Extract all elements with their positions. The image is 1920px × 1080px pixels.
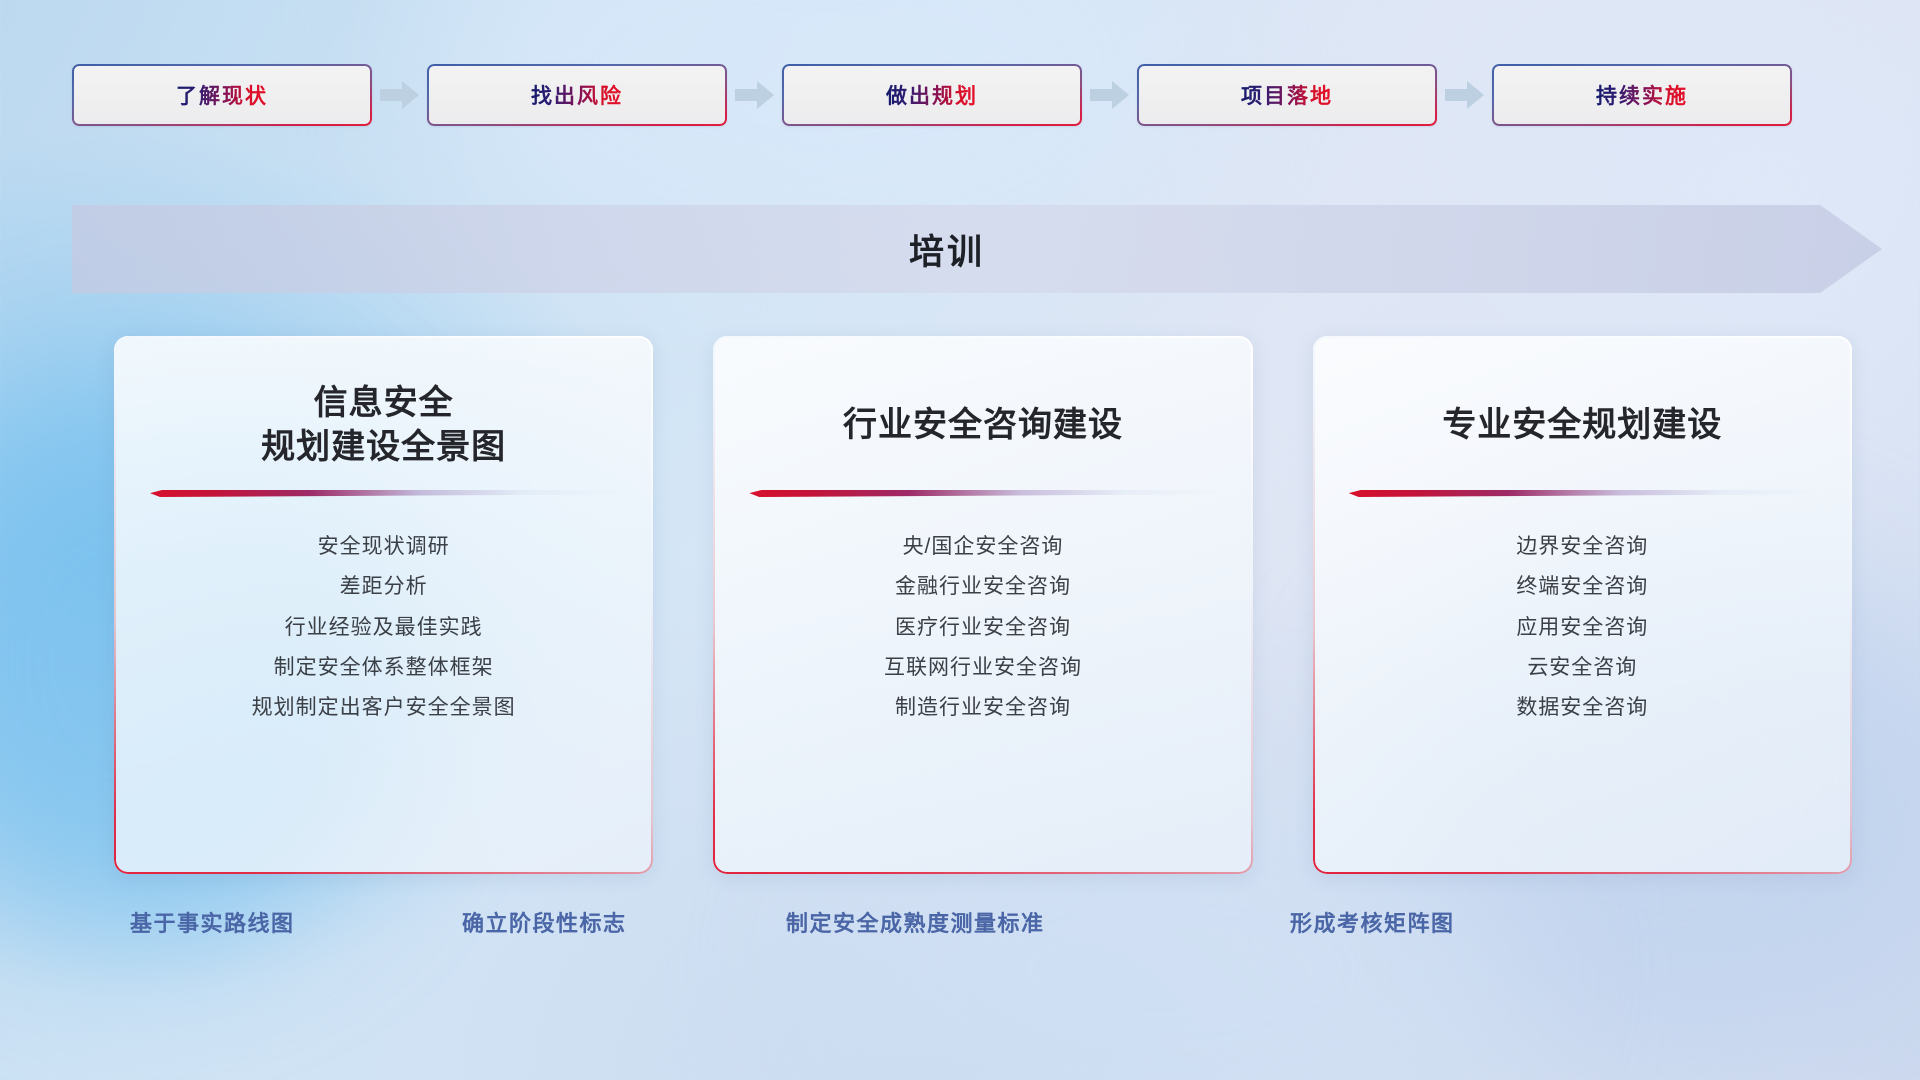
list-item: 数据安全咨询 <box>1516 694 1648 721</box>
card-item-list-3: 边界安全咨询 终端安全咨询 应用安全咨询 云安全咨询 数据安全咨询 <box>1516 533 1648 721</box>
card-1[interactable]: 信息安全 规划建设全景图 安全现状调研 差距分析 行业经验及最佳实践 制定安全体… <box>114 336 653 874</box>
arrow-right-icon <box>727 64 782 126</box>
list-item: 央/国企安全咨询 <box>903 533 1064 560</box>
card-title-1: 信息安全 规划建设全景图 <box>261 382 506 470</box>
step-label-2: 找出风险 <box>531 80 623 110</box>
step-label-1: 了解现状 <box>176 80 268 110</box>
step-box-2[interactable]: 找出风险 <box>427 64 727 126</box>
footer-label-4: 形成考核矩阵图 <box>1290 906 1455 938</box>
training-banner: 培训 <box>72 205 1882 293</box>
footer-caption-row: 基于事实路线图 确立阶段性标志 制定安全成熟度测量标准 形成考核矩阵图 <box>0 906 1920 956</box>
step-label-3: 做出规划 <box>886 80 978 110</box>
list-item: 安全现状调研 <box>318 533 450 560</box>
footer-label-3: 制定安全成熟度测量标准 <box>786 906 1045 938</box>
step-label-4: 项目落地 <box>1241 80 1333 110</box>
step-label-5: 持续实施 <box>1596 80 1688 110</box>
list-item: 制定安全体系整体框架 <box>274 654 494 681</box>
step-box-4[interactable]: 项目落地 <box>1137 64 1437 126</box>
card-2[interactable]: 行业安全咨询建设 央/国企安全咨询 金融行业安全咨询 医疗行业安全咨询 互联网行… <box>713 336 1252 874</box>
card-title-2: 行业安全咨询建设 <box>843 382 1123 470</box>
list-item: 应用安全咨询 <box>1516 614 1648 641</box>
card-row: 信息安全 规划建设全景图 安全现状调研 差距分析 行业经验及最佳实践 制定安全体… <box>114 336 1852 874</box>
list-item: 医疗行业安全咨询 <box>895 614 1071 641</box>
list-item: 规划制定出客户安全全景图 <box>252 694 516 721</box>
list-item: 差距分析 <box>340 573 428 600</box>
arrow-right-icon <box>1437 64 1492 126</box>
step-box-1[interactable]: 了解现状 <box>72 64 372 126</box>
card-item-list-1: 安全现状调研 差距分析 行业经验及最佳实践 制定安全体系整体框架 规划制定出客户… <box>252 533 516 721</box>
card-3[interactable]: 专业安全规划建设 边界安全咨询 终端安全咨询 应用安全咨询 云安全咨询 数据安全… <box>1313 336 1852 874</box>
process-step-row: 了解现状 找出风险 做出规划 项目落地 持续实施 <box>72 64 1860 126</box>
list-item: 行业经验及最佳实践 <box>285 614 483 641</box>
list-item: 终端安全咨询 <box>1516 573 1648 600</box>
list-item: 制造行业安全咨询 <box>895 694 1071 721</box>
list-item: 边界安全咨询 <box>1516 533 1648 560</box>
card-title-3: 专业安全规划建设 <box>1442 382 1722 470</box>
arrow-right-icon <box>1082 64 1137 126</box>
list-item: 金融行业安全咨询 <box>895 573 1071 600</box>
banner-title: 培训 <box>72 205 1882 293</box>
card-item-list-2: 央/国企安全咨询 金融行业安全咨询 医疗行业安全咨询 互联网行业安全咨询 制造行… <box>884 533 1082 721</box>
card-divider-1 <box>150 490 617 497</box>
step-box-3[interactable]: 做出规划 <box>782 64 1082 126</box>
card-divider-3 <box>1349 490 1816 497</box>
list-item: 云安全咨询 <box>1527 654 1637 681</box>
footer-label-1: 基于事实路线图 <box>130 906 295 938</box>
footer-label-2: 确立阶段性标志 <box>462 906 627 938</box>
card-divider-2 <box>749 490 1216 497</box>
list-item: 互联网行业安全咨询 <box>884 654 1082 681</box>
arrow-right-icon <box>372 64 427 126</box>
step-box-5[interactable]: 持续实施 <box>1492 64 1792 126</box>
